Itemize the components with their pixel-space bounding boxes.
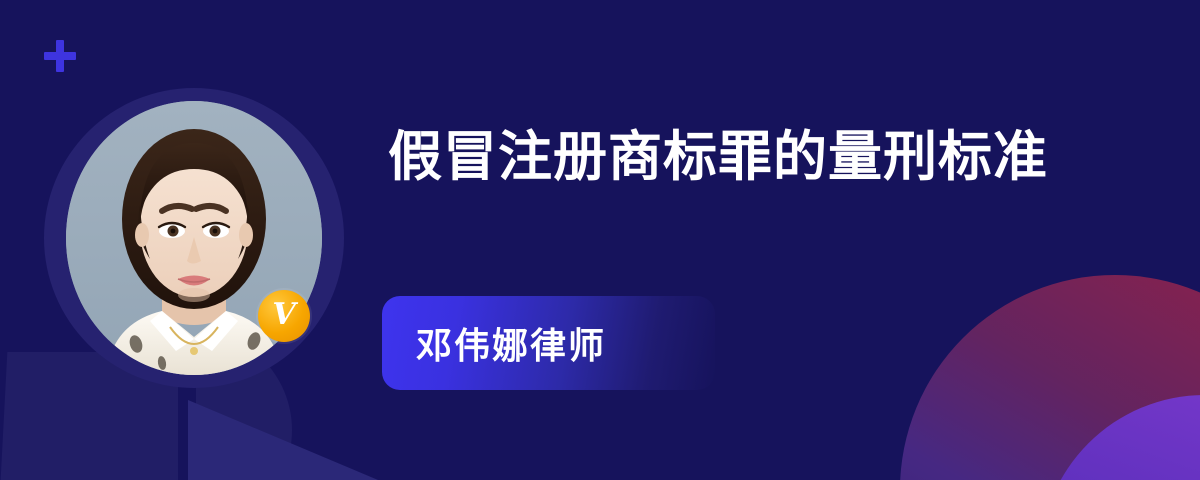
decorative-gradient-circle: [900, 275, 1200, 480]
decorative-purple-circle: [1040, 395, 1200, 480]
content-block: 假冒注册商标罪的量刑标准: [388, 120, 1128, 194]
plus-icon: [42, 38, 78, 74]
article-cover-card: V 假冒注册商标罪的量刑标准 邓伟娜律师: [0, 0, 1200, 480]
avatar[interactable]: V: [44, 88, 344, 388]
page-title: 假冒注册商标罪的量刑标准: [388, 120, 1094, 194]
verified-badge: V: [258, 290, 310, 342]
verified-badge-label: V: [272, 300, 295, 330]
author-button[interactable]: 邓伟娜律师: [382, 296, 715, 390]
decorative-triangle: [188, 400, 378, 480]
